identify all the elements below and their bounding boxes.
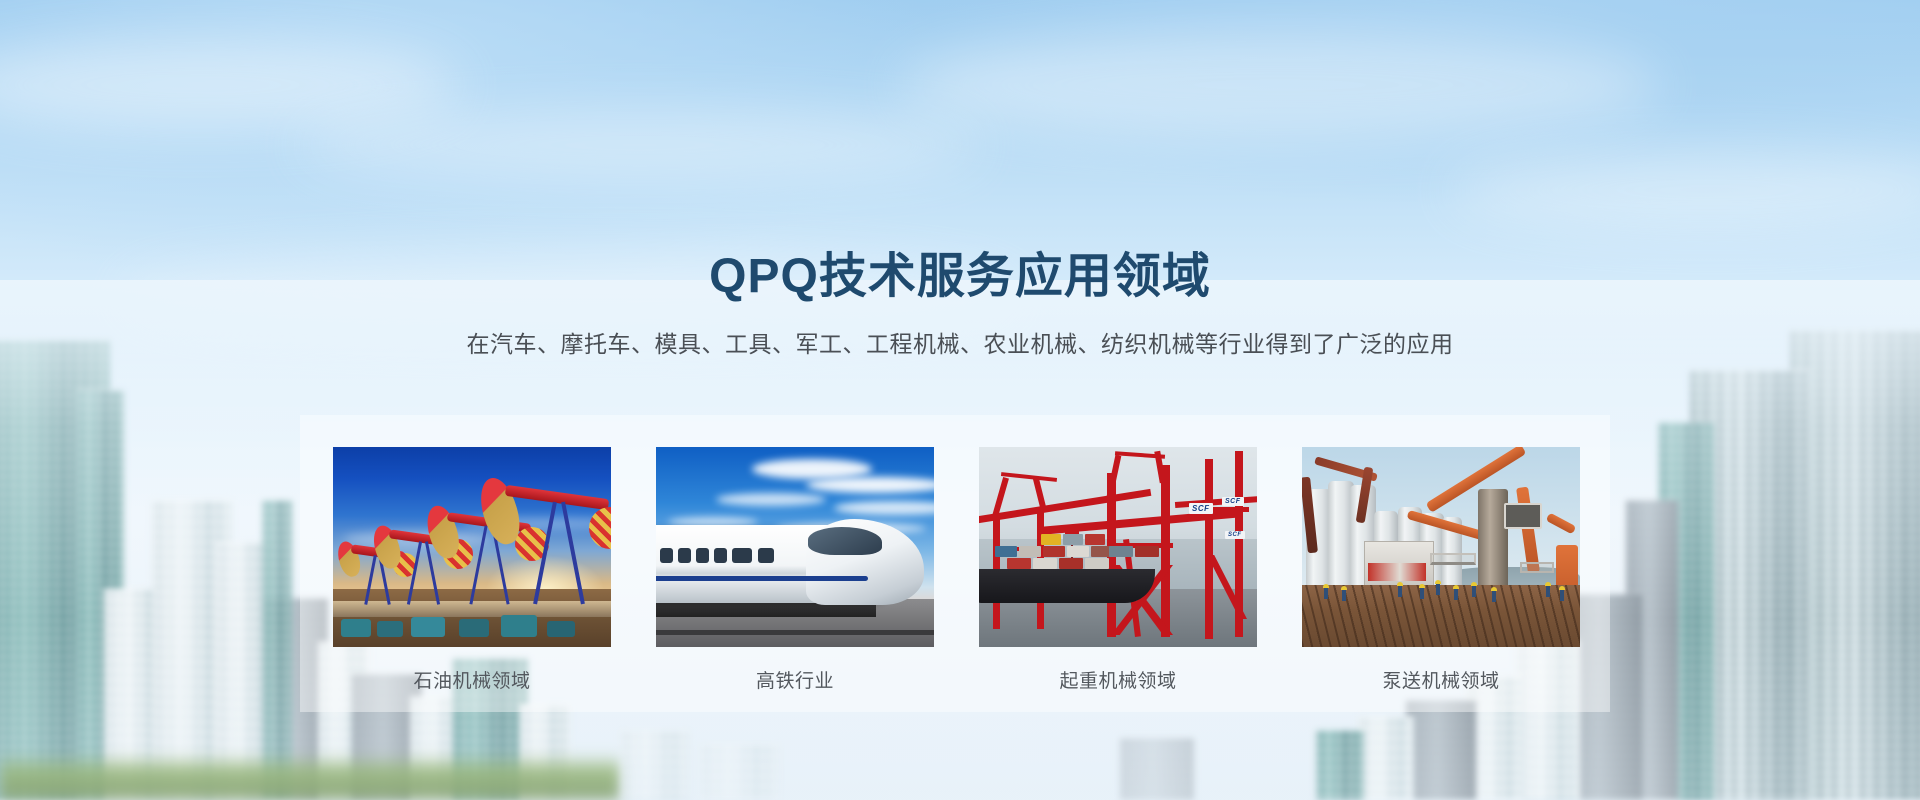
application-card[interactable]: 石油机械领域	[333, 447, 611, 692]
cloud	[806, 477, 934, 493]
worker	[1420, 588, 1424, 599]
container	[1007, 558, 1031, 569]
container	[1109, 546, 1133, 557]
application-card-list: 石油机械领域	[333, 447, 1583, 692]
crane-leg	[1205, 459, 1213, 639]
train-window	[732, 548, 752, 563]
worker	[1492, 591, 1496, 602]
card-label: 高铁行业	[656, 666, 934, 693]
application-card[interactable]: 高铁行业	[656, 447, 934, 692]
train-stripe	[656, 576, 868, 581]
operator-cabin	[1504, 503, 1542, 529]
wellhead-equipment	[411, 617, 445, 637]
scf-logo: SCF	[1225, 531, 1245, 539]
container	[1041, 534, 1061, 545]
wellhead-equipment	[459, 619, 489, 637]
train-window	[714, 548, 727, 563]
container	[1059, 558, 1083, 569]
high-speed-train-photo[interactable]	[656, 447, 934, 647]
worker	[1546, 586, 1550, 597]
card-label: 石油机械领域	[333, 666, 611, 693]
work-platform	[1430, 553, 1476, 565]
application-card[interactable]: 泵送机械领域	[1302, 447, 1580, 692]
container	[1085, 534, 1105, 545]
container	[995, 546, 1017, 557]
card-label: 起重机械领域	[979, 666, 1257, 693]
worker	[1454, 589, 1458, 600]
container-ship	[979, 569, 1155, 603]
cloud	[752, 459, 872, 479]
worker	[1560, 590, 1564, 601]
train-windshield	[808, 527, 882, 555]
card-label: 泵送机械领域	[1302, 666, 1580, 693]
container	[1135, 546, 1159, 557]
work-platform	[1520, 562, 1554, 573]
worker	[1342, 590, 1346, 601]
crane-leg	[1161, 465, 1170, 637]
scf-logo: SCF	[1189, 503, 1213, 514]
concrete-pump-photo[interactable]	[1302, 447, 1580, 647]
site-banner	[1368, 563, 1426, 581]
train-window	[758, 548, 774, 563]
worker	[1436, 584, 1440, 595]
wellhead-equipment	[501, 615, 537, 637]
application-card[interactable]: SCF SCF SCF 起重机械领域	[979, 447, 1257, 692]
train-window	[696, 548, 709, 563]
container	[1085, 558, 1109, 569]
port-gantry-crane-photo[interactable]: SCF SCF SCF	[979, 447, 1257, 647]
container	[1043, 546, 1065, 557]
container	[1033, 558, 1057, 569]
wellhead-equipment	[341, 619, 371, 637]
railway-track	[656, 630, 934, 635]
wellhead-equipment	[377, 621, 403, 637]
container	[1019, 546, 1041, 557]
container	[1063, 534, 1083, 545]
worker	[1398, 586, 1402, 597]
container	[1067, 546, 1089, 557]
scf-logo: SCF	[1222, 497, 1244, 506]
oil-pumpjacks-photo[interactable]	[333, 447, 611, 647]
page-subtitle: 在汽车、摩托车、模具、工具、军工、工程机械、农业机械、纺织机械等行业得到了广泛的…	[0, 325, 1920, 359]
worker	[1472, 586, 1476, 597]
page-title: QPQ技术服务应用领域	[0, 236, 1920, 306]
cloud	[716, 493, 826, 506]
train-window	[678, 548, 691, 563]
train-window	[660, 548, 673, 563]
wellhead-equipment	[547, 621, 575, 637]
worker	[1324, 588, 1328, 599]
